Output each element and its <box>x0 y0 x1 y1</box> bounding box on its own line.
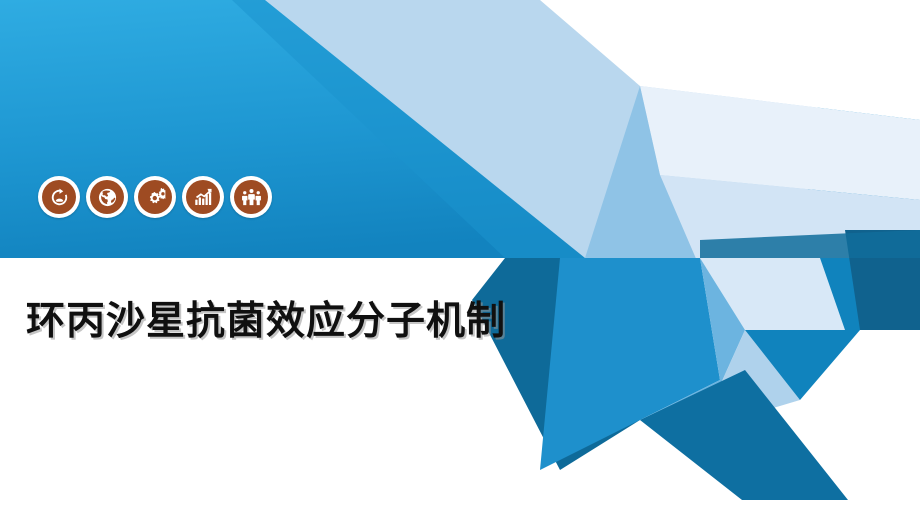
page-title: 环丙沙星抗菌效应分子机制 <box>26 300 506 345</box>
tagline-text: 数智创新 变革未来 <box>715 26 898 51</box>
bar-chart-growth-icon <box>193 187 214 208</box>
icon-badge-bar-chart-growth[interactable] <box>182 176 224 218</box>
background-artwork <box>0 0 920 518</box>
globe-icon <box>97 187 118 208</box>
icon-disc <box>138 180 172 214</box>
slide-canvas: 数智创新 变革未来 <box>0 0 920 518</box>
people-group-icon <box>241 187 262 208</box>
icon-disc <box>42 180 76 214</box>
refresh-cycle-icon <box>49 187 70 208</box>
icon-badge-refresh-cycle[interactable] <box>38 176 80 218</box>
icon-strip <box>38 176 272 218</box>
icon-badge-globe[interactable] <box>86 176 128 218</box>
gears-icon <box>145 187 166 208</box>
icon-disc <box>90 180 124 214</box>
icon-disc <box>234 180 268 214</box>
icon-badge-gears[interactable] <box>134 176 176 218</box>
icon-disc <box>186 180 220 214</box>
icon-badge-people-group[interactable] <box>230 176 272 218</box>
